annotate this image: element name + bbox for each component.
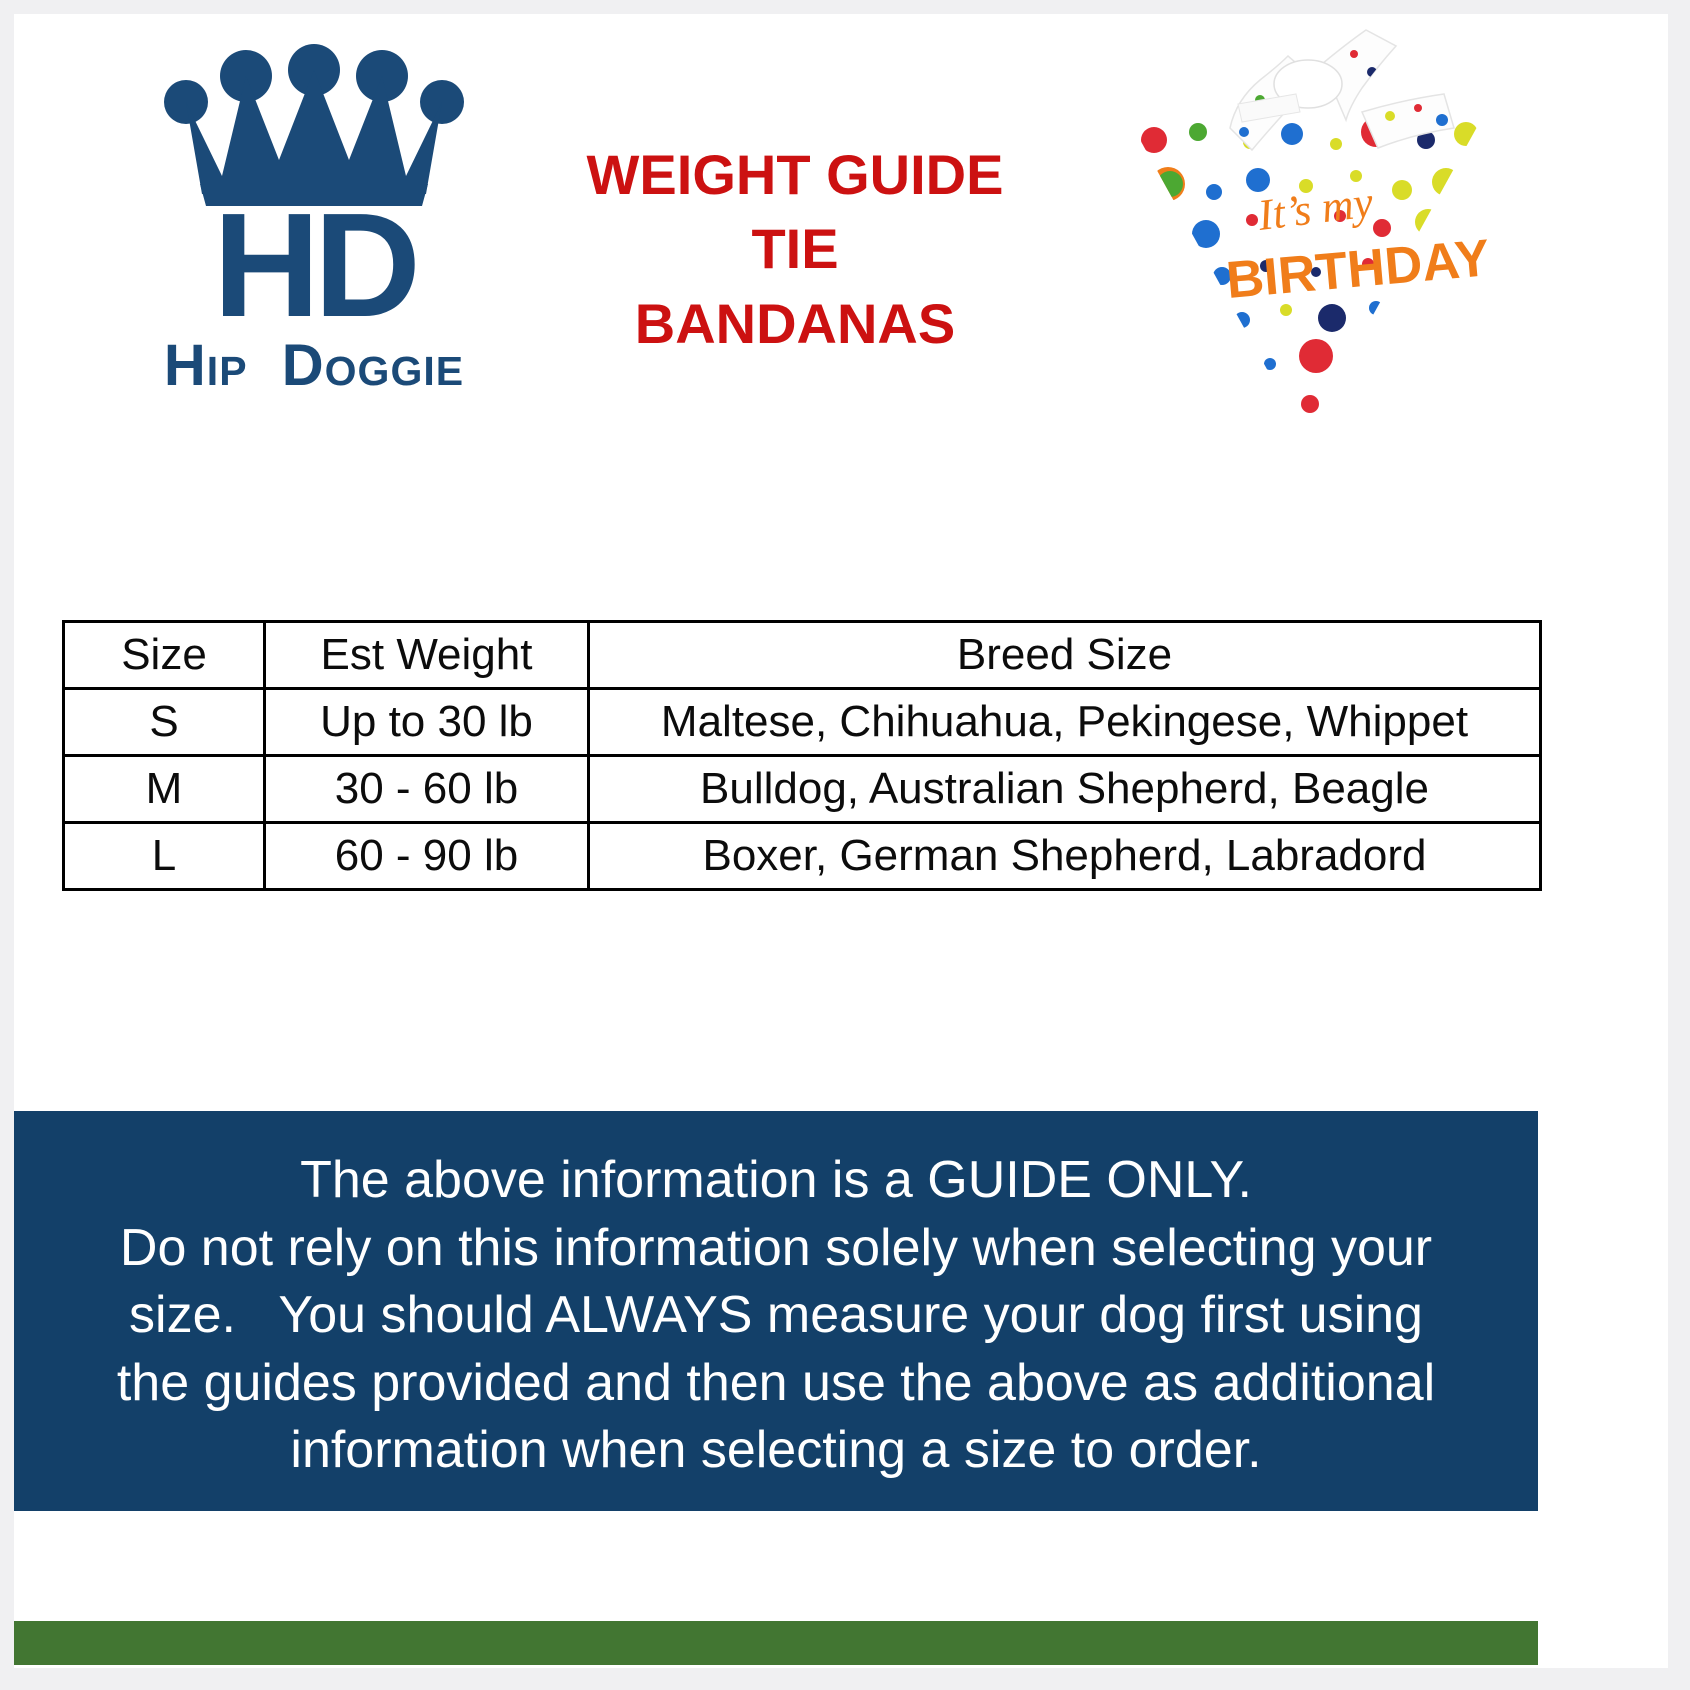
- brand-name-part2: Doggie: [282, 333, 464, 398]
- page-title-line2: TIE: [530, 212, 1060, 286]
- cell-breeds: Bulldog, Australian Shepherd, Beagle: [589, 756, 1541, 823]
- disclaimer-line4: the guides provided and then use the abo…: [32, 1350, 1520, 1418]
- cell-weight: 30 - 60 lb: [265, 756, 589, 823]
- cell-breeds: Boxer, German Shepherd, Labradord: [589, 823, 1541, 890]
- weight-guide-page: HD Hip Doggie WEIGHT GUIDE TIE BANDANAS: [0, 0, 1690, 1690]
- page-title-line3: BANDANAS: [530, 287, 1060, 361]
- brand-name-part1: Hip: [164, 333, 248, 398]
- table-header-size: Size: [64, 622, 265, 689]
- table-row: M 30 - 60 lb Bulldog, Australian Shepher…: [64, 756, 1541, 823]
- product-photo-bandana: It’s my BIRTHDAY: [1110, 8, 1500, 448]
- cell-size: L: [64, 823, 265, 890]
- disclaimer-line2: Do not rely on this information solely w…: [32, 1215, 1520, 1283]
- table-row: S Up to 30 lb Maltese, Chihuahua, Peking…: [64, 689, 1541, 756]
- page-frame-left: [0, 0, 14, 1690]
- disclaimer-line1: The above information is a GUIDE ONLY.: [32, 1147, 1520, 1215]
- page-title-line1: WEIGHT GUIDE: [530, 138, 1060, 212]
- size-chart-table: Size Est Weight Breed Size S Up to 30 lb…: [62, 620, 1542, 891]
- brand-name: Hip Doggie: [104, 332, 524, 399]
- cell-weight: 60 - 90 lb: [265, 823, 589, 890]
- cell-breeds: Maltese, Chihuahua, Pekingese, Whippet: [589, 689, 1541, 756]
- accent-bar-green: [14, 1621, 1538, 1665]
- page-frame-bottom: [0, 1668, 1690, 1690]
- table-header-weight: Est Weight: [265, 622, 589, 689]
- disclaimer-notice: The above information is a GUIDE ONLY. D…: [14, 1111, 1538, 1511]
- disclaimer-line5: information when selecting a size to ord…: [32, 1417, 1520, 1485]
- cell-weight: Up to 30 lb: [265, 689, 589, 756]
- table-header-breed: Breed Size: [589, 622, 1541, 689]
- table-header-row: Size Est Weight Breed Size: [64, 622, 1541, 689]
- brand-monogram: HD: [104, 192, 524, 340]
- cell-size: M: [64, 756, 265, 823]
- cell-size: S: [64, 689, 265, 756]
- disclaimer-line3: size. You should ALWAYS measure your dog…: [32, 1282, 1520, 1350]
- table-row: L 60 - 90 lb Boxer, German Shepherd, Lab…: [64, 823, 1541, 890]
- page-frame-right: [1668, 0, 1690, 1690]
- brand-logo: HD Hip Doggie: [104, 44, 524, 384]
- page-title: WEIGHT GUIDE TIE BANDANAS: [530, 138, 1060, 361]
